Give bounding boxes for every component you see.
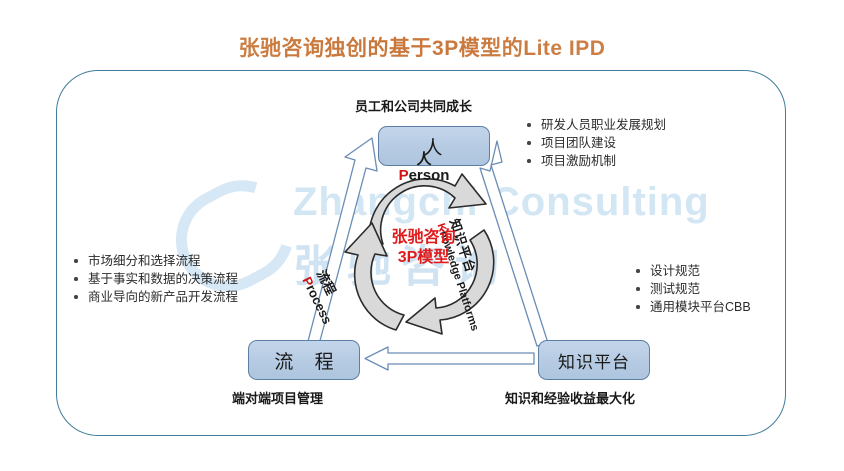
bullet-list-left: 市场细分和选择流程 基于事实和数据的决策流程 商业导向的新产品开发流程 xyxy=(72,252,238,306)
list-item: 测试规范 xyxy=(634,280,751,298)
wheel-center-line1: 张驰咨询 xyxy=(336,228,511,248)
list-item: 研发人员职业发展规划 xyxy=(525,116,666,134)
node-person-caption: 员工和公司共同成长 xyxy=(355,96,472,115)
list-item: 通用模块平台CBB xyxy=(634,298,751,316)
arrow-knowledge-to-process xyxy=(365,347,534,370)
wheel-center-label: 张驰咨询 3P模型 xyxy=(336,228,511,268)
wheel-label-person-cn: 人 xyxy=(374,152,474,167)
node-process-caption: 端对端项目管理 xyxy=(232,388,323,407)
list-item: 项目团队建设 xyxy=(525,134,666,152)
wheel-label-person-rest: erson xyxy=(409,167,450,184)
list-item: 市场细分和选择流程 xyxy=(72,252,238,270)
node-process[interactable]: 流 程 xyxy=(248,340,360,380)
slide-canvas: 张驰咨询独创的基于3P模型的Lite IPD Zhangchi Consulti… xyxy=(0,0,844,471)
bullet-list-top-right: 研发人员职业发展规划 项目团队建设 项目激励机制 xyxy=(525,116,666,170)
list-item: 项目激励机制 xyxy=(525,152,666,170)
node-knowledge-platform[interactable]: 知识平台 xyxy=(538,340,650,380)
list-item: 基于事实和数据的决策流程 xyxy=(72,270,238,288)
wheel-center-line2: 3P模型 xyxy=(336,248,511,268)
list-item: 商业导向的新产品开发流程 xyxy=(72,288,238,306)
bullet-list-right: 设计规范 测试规范 通用模块平台CBB xyxy=(634,262,751,316)
wheel-label-person-en: Person xyxy=(374,167,474,186)
wheel-label-person: 人 Person xyxy=(374,152,474,186)
list-item: 设计规范 xyxy=(634,262,751,280)
wheel-label-person-accent: P xyxy=(399,167,409,184)
node-knowledge-platform-caption: 知识和经验收益最大化 xyxy=(505,388,635,407)
